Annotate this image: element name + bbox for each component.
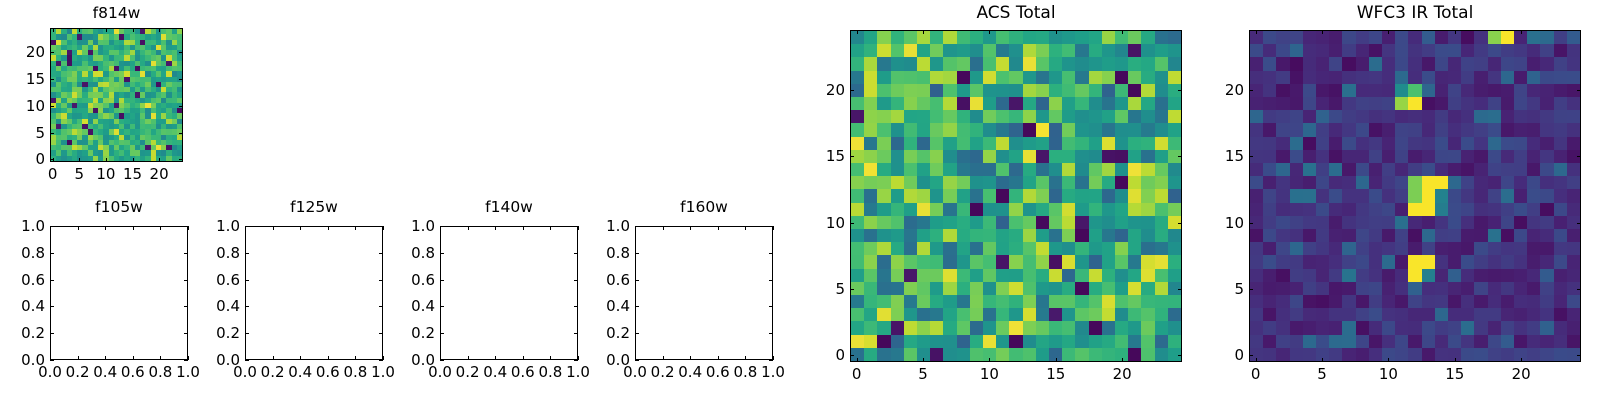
heatmap-acs-total bbox=[851, 31, 1181, 361]
y-tick-label: 10 bbox=[1203, 214, 1244, 232]
y-tick-label: 0.4 bbox=[199, 297, 240, 315]
y-tick-label: 0.2 bbox=[589, 324, 630, 342]
figure-canvas: f814w 0510152005101520 f105w 0.00.20.40.… bbox=[0, 0, 1600, 400]
panel-title-wfc3-ir-total: WFC3 IR Total bbox=[1249, 3, 1581, 23]
y-tick-label: 0.4 bbox=[394, 297, 435, 315]
y-tick-label: 0.4 bbox=[4, 297, 45, 315]
y-tick-label: 0.0 bbox=[4, 351, 45, 369]
x-tick-label: 20 bbox=[1113, 365, 1132, 383]
y-tick-label: 15 bbox=[4, 70, 45, 88]
x-tick-label: 0.4 bbox=[288, 363, 312, 381]
x-tick-label: 0.6 bbox=[511, 363, 535, 381]
x-tick-label: 15 bbox=[1046, 365, 1065, 383]
x-tick-label: 0.4 bbox=[93, 363, 117, 381]
y-tick-label: 0.2 bbox=[199, 324, 240, 342]
axes-f125w bbox=[245, 226, 383, 360]
axes-f814w bbox=[50, 28, 183, 162]
panel-title-f140w: f140w bbox=[440, 198, 578, 216]
heatmap-f814w bbox=[51, 29, 182, 161]
y-tick-label: 0.2 bbox=[394, 324, 435, 342]
heatmap-wfc3-ir-total bbox=[1250, 31, 1580, 361]
y-tick-label: 10 bbox=[804, 214, 845, 232]
x-tick-label: 1.0 bbox=[761, 363, 785, 381]
y-tick-label: 20 bbox=[4, 43, 45, 61]
y-tick-label: 15 bbox=[804, 147, 845, 165]
x-tick-label: 1.0 bbox=[371, 363, 395, 381]
x-tick-label: 5 bbox=[918, 365, 928, 383]
panel-title-acs-total: ACS Total bbox=[850, 3, 1182, 23]
x-tick-label: 10 bbox=[980, 365, 999, 383]
x-tick-label: 1.0 bbox=[176, 363, 200, 381]
y-tick-label: 0.0 bbox=[589, 351, 630, 369]
y-tick-label: 0.4 bbox=[589, 297, 630, 315]
x-tick-label: 10 bbox=[96, 165, 115, 183]
y-tick-label: 0.8 bbox=[4, 244, 45, 262]
panel-title-f814w: f814w bbox=[50, 4, 183, 22]
axes-f105w bbox=[50, 226, 188, 360]
x-tick-label: 0 bbox=[852, 365, 862, 383]
panel-title-f160w: f160w bbox=[635, 198, 773, 216]
y-tick-label: 5 bbox=[804, 280, 845, 298]
x-tick-label: 1.0 bbox=[566, 363, 590, 381]
x-tick-label: 0.6 bbox=[121, 363, 145, 381]
y-tick-label: 5 bbox=[4, 124, 45, 142]
x-tick-label: 0.2 bbox=[456, 363, 480, 381]
y-tick-label: 1.0 bbox=[589, 217, 630, 235]
y-tick-label: 0.6 bbox=[4, 271, 45, 289]
y-tick-label: 0.0 bbox=[394, 351, 435, 369]
y-tick-label: 15 bbox=[1203, 147, 1244, 165]
y-tick-label: 0.2 bbox=[4, 324, 45, 342]
panel-title-f125w: f125w bbox=[245, 198, 383, 216]
x-tick-label: 20 bbox=[1512, 365, 1531, 383]
x-tick-label: 20 bbox=[150, 165, 169, 183]
x-tick-label: 0.8 bbox=[733, 363, 757, 381]
y-tick-label: 0.6 bbox=[394, 271, 435, 289]
y-tick-label: 0.6 bbox=[589, 271, 630, 289]
y-tick-label: 5 bbox=[1203, 280, 1244, 298]
y-tick-label: 0 bbox=[804, 346, 845, 364]
x-tick-label: 0.8 bbox=[148, 363, 172, 381]
x-tick-label: 0.6 bbox=[706, 363, 730, 381]
y-tick-label: 1.0 bbox=[394, 217, 435, 235]
x-tick-label: 0 bbox=[48, 165, 58, 183]
x-tick-label: 0.4 bbox=[678, 363, 702, 381]
y-tick-label: 1.0 bbox=[4, 217, 45, 235]
x-tick-label: 0.6 bbox=[316, 363, 340, 381]
y-tick-label: 0.8 bbox=[199, 244, 240, 262]
x-tick-label: 10 bbox=[1379, 365, 1398, 383]
y-tick-label: 20 bbox=[1203, 81, 1244, 99]
x-tick-label: 5 bbox=[75, 165, 85, 183]
y-tick-label: 0.0 bbox=[199, 351, 240, 369]
y-tick-label: 1.0 bbox=[199, 217, 240, 235]
y-tick-label: 10 bbox=[4, 97, 45, 115]
x-tick-label: 0.2 bbox=[261, 363, 285, 381]
axes-f140w bbox=[440, 226, 578, 360]
panel-title-f105w: f105w bbox=[50, 198, 188, 216]
axes-acs-total bbox=[850, 30, 1182, 362]
y-tick-label: 0 bbox=[1203, 346, 1244, 364]
x-tick-label: 0.4 bbox=[483, 363, 507, 381]
x-tick-label: 0.2 bbox=[651, 363, 675, 381]
axes-f160w bbox=[635, 226, 773, 360]
x-tick-label: 15 bbox=[1445, 365, 1464, 383]
x-tick-label: 5 bbox=[1317, 365, 1327, 383]
y-tick-label: 0.8 bbox=[394, 244, 435, 262]
x-tick-label: 15 bbox=[123, 165, 142, 183]
y-tick-label: 20 bbox=[804, 81, 845, 99]
x-tick-label: 0.8 bbox=[538, 363, 562, 381]
axes-wfc3-ir-total bbox=[1249, 30, 1581, 362]
y-tick-label: 0.6 bbox=[199, 271, 240, 289]
x-tick-label: 0.2 bbox=[66, 363, 90, 381]
x-tick-label: 0.8 bbox=[343, 363, 367, 381]
y-tick-label: 0.8 bbox=[589, 244, 630, 262]
x-tick-label: 0 bbox=[1251, 365, 1261, 383]
y-tick-label: 0 bbox=[4, 150, 45, 168]
